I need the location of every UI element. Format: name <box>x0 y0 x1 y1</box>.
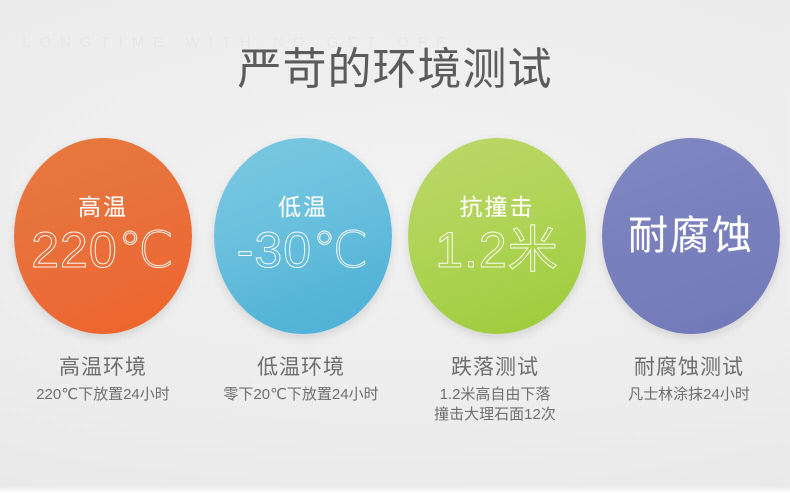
badge-value: 1.2米 <box>435 222 559 278</box>
badge-label: 抗撞击 <box>460 194 535 220</box>
badge-value: 220℃ <box>31 222 175 278</box>
product-feature-panel: LONGTIME WITH NO GET OFF 严苛的环境测试 高温 220℃… <box>0 0 790 496</box>
test-captions-row: 高温环境 220℃下放置24小时 低温环境 零下20℃下放置24小时 跌落测试 … <box>0 354 790 464</box>
caption-heading: 低温环境 <box>198 354 404 382</box>
caption-high-temperature-environment: 高温环境 220℃下放置24小时 <box>0 354 206 405</box>
caption-line-1: 零下20℃下放置24小时 <box>198 385 404 405</box>
page-title: 严苛的环境测试 <box>0 42 790 98</box>
caption-heading: 跌落测试 <box>392 354 598 382</box>
badge-label: 低温 <box>278 194 328 220</box>
caption-line-2: 撞击大理石面12次 <box>392 405 598 425</box>
caption-line-1: 1.2米高自由下落 <box>392 385 598 405</box>
badge-label: 高温 <box>78 194 128 220</box>
test-badge-high-temperature: 高温 220℃ <box>14 138 192 334</box>
caption-heading: 高温环境 <box>0 354 206 382</box>
test-badge-impact-resistance: 抗撞击 1.2米 <box>408 138 586 334</box>
caption-heading: 耐腐蚀测试 <box>586 354 790 382</box>
caption-drop-test: 跌落测试 1.2米高自由下落 撞击大理石面12次 <box>392 354 598 425</box>
test-badge-low-temperature: 低温 -30℃ <box>214 138 392 334</box>
test-badge-corrosion-resistance: 耐腐蚀 <box>602 138 780 334</box>
caption-line-1: 凡士林涂抹24小时 <box>586 385 790 405</box>
caption-line-1: 220℃下放置24小时 <box>0 385 206 405</box>
badge-label: 耐腐蚀 <box>628 212 754 260</box>
caption-corrosion-test: 耐腐蚀测试 凡士林涂抹24小时 <box>586 354 790 405</box>
badge-value: -30℃ <box>237 222 369 278</box>
test-badges-row: 高温 220℃ 低温 -30℃ 抗撞击 1.2米 耐腐蚀 <box>0 138 790 338</box>
caption-low-temperature-environment: 低温环境 零下20℃下放置24小时 <box>198 354 404 405</box>
